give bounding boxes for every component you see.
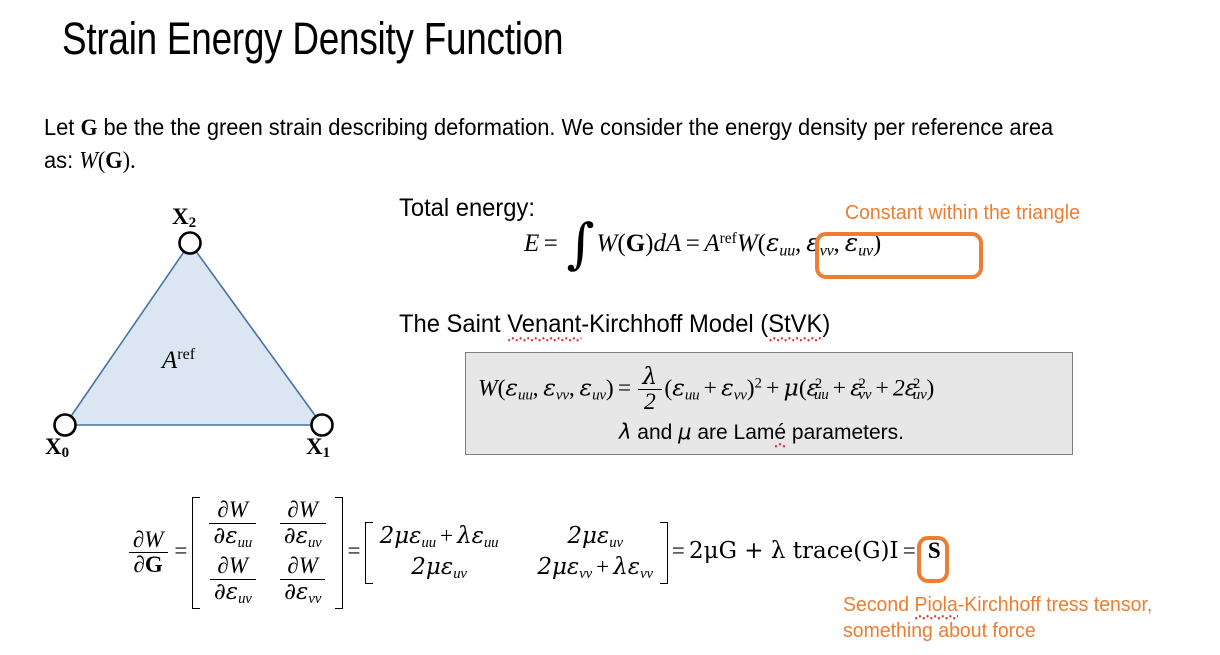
cell-sub-c: uv xyxy=(609,535,623,551)
eq-symbol-G: G xyxy=(626,230,645,257)
stvk-paren-close: ) xyxy=(606,375,614,401)
cell-den-sub: vv xyxy=(308,591,321,607)
stvk-sq-sub-1: uu xyxy=(814,387,829,403)
vertex-node-x0 xyxy=(55,415,76,436)
dG-partial: ∂ xyxy=(134,552,145,577)
matrix-cell: ∂W∂εuv xyxy=(198,553,268,609)
cell-term-f: λε xyxy=(613,554,640,580)
cell-sub-d: uv xyxy=(453,566,467,582)
cell-frac: ∂W∂εuv xyxy=(280,498,326,552)
cell-sub-b: uu xyxy=(484,535,498,551)
dW-numerator: ∂W xyxy=(129,528,168,553)
energy-density-symbol-w: W xyxy=(79,148,98,174)
eq-differential-dA: dA xyxy=(653,230,681,257)
stvk-lhs-eps-2: ε xyxy=(543,373,556,401)
matrix-1-brackets: ∂W∂εuu ∂W∂εuv ∂W∂εuv ∂W∂εvv xyxy=(192,497,344,609)
eq-symbol-E: E xyxy=(524,230,539,257)
stvk-lhs-sub-2: vv xyxy=(556,387,569,403)
stvk-group-open-1: ( xyxy=(664,375,672,401)
stvk-heading-venant: Venant xyxy=(507,310,581,342)
eq-symbol-W: W xyxy=(597,230,618,257)
cell-sub-a: uu xyxy=(422,535,436,551)
matrix-row: ∂W∂εuu ∂W∂εuv xyxy=(198,497,338,553)
cell-term-a: 2με xyxy=(380,523,422,549)
dG-G: G xyxy=(145,552,163,577)
matrix-cell: 2μεuv xyxy=(507,522,661,553)
eq-paren-open-1: ( xyxy=(617,230,625,257)
total-energy-heading: Total energy: xyxy=(399,194,535,223)
stvk-heading: The Saint Venant-Kirchhoff Model (StVK) xyxy=(399,310,830,339)
vertex-node-x2 xyxy=(180,233,201,254)
vertex-label-x1-sub: 1 xyxy=(323,445,331,461)
cell-num: ∂W xyxy=(280,498,326,523)
cell-den: ∂εuv xyxy=(280,523,326,552)
reference-area-label-sup: ref xyxy=(177,346,195,363)
stvk-term-eps-1: ε xyxy=(672,373,685,401)
cell-num: ∂W xyxy=(210,554,256,579)
cell-den-eps: ∂ε xyxy=(284,579,308,605)
matrix-cell: 2μεuu+λεuu xyxy=(371,522,508,553)
deriv-result-expression: 2μG + λ trace(G)I xyxy=(689,538,899,564)
fraction-denominator-two: 2 xyxy=(638,389,661,415)
eq-symbol-A: A xyxy=(704,230,719,257)
cell-frac: ∂W∂εuu xyxy=(209,498,256,552)
annotation-second-piola-kirchhoff: Second Piola-Kirchhoff tress tensor,some… xyxy=(843,592,1152,644)
cell-frac: ∂W∂εvv xyxy=(280,554,325,608)
eq-equals-2: = xyxy=(681,230,704,257)
highlight-box-stress-tensor xyxy=(917,536,949,583)
stvk-heading-part-3: ) xyxy=(822,310,830,338)
cell-plus-2: + xyxy=(592,554,613,579)
lame-parameters-note: λ and μ are Lamé parameters. xyxy=(619,420,904,445)
matrix-cell: ∂W∂εuv xyxy=(268,497,338,553)
stvk-heading-abbr: StVK xyxy=(768,310,822,342)
annotation-bottom-part-1: Second xyxy=(843,593,914,616)
stvk-group-close-2: ) xyxy=(927,375,935,401)
eq-equals-1: = xyxy=(539,230,562,257)
vertex-label-x2-sub: 2 xyxy=(189,215,197,231)
eq-paren-open-2: ( xyxy=(758,230,766,257)
fraction-numerator-lambda: λ xyxy=(638,364,661,389)
annotation-bottom-part-2: -Kirchhoff tress tensor, xyxy=(958,593,1152,616)
stvk-coef-2: 2 xyxy=(893,375,905,401)
paren-open: ( xyxy=(98,148,105,174)
stvk-lhs-eps-1: ε xyxy=(505,373,518,401)
lame-text-1: are Lam xyxy=(692,421,775,444)
matrix-2-brackets: 2μεuu+λεuu 2μεuv 2μεuv 2μεvv+λεvv xyxy=(365,522,668,584)
cell-den-eps: ∂ε xyxy=(284,523,308,549)
page-title: Strain Energy Density Function xyxy=(62,12,563,66)
stvk-plus-2: + xyxy=(829,375,851,401)
vertex-label-x0-sub: 0 xyxy=(62,445,70,461)
matrix-cell: ∂W∂εvv xyxy=(268,553,338,609)
stvk-term-eps-2: ε xyxy=(721,373,734,401)
stvk-heading-part-1: The Saint xyxy=(399,310,507,338)
stvk-energy-equation: W(εuu, εvv, εuv)=λ2(εuu+εvv)2+μ(ε2uu+ε2v… xyxy=(478,364,934,416)
cell-term-e: 2με xyxy=(537,554,579,580)
annotation-bottom-piola: Piola xyxy=(914,593,957,620)
lame-and: and xyxy=(631,421,678,444)
derivative-equation: ∂W∂G= ∂W∂εuu ∂W∂εuv ∂W∂εuv ∂W∂εvv = 2μεu… xyxy=(126,497,949,609)
dW-partial: ∂ xyxy=(133,527,144,552)
integral-icon: ∫ xyxy=(566,229,594,259)
stvk-plus-outer: + xyxy=(762,375,784,401)
reference-area-label-base: A xyxy=(162,347,177,374)
matrix-row: 2μεuv 2μεvv+λεvv xyxy=(371,553,662,584)
cell-den: ∂εuv xyxy=(210,579,256,608)
stvk-term-sub-2: vv xyxy=(734,387,747,403)
intro-text-part-2: be the the green strain describing defor… xyxy=(44,114,1053,173)
energy-density-arg-g: G xyxy=(105,148,122,174)
stvk-plus-inner: + xyxy=(699,375,721,401)
stvk-sq-sub-2: vv xyxy=(858,387,871,403)
cell-den: ∂εuu xyxy=(209,523,256,552)
stvk-group-open-2: ( xyxy=(799,375,807,401)
dW-W: W xyxy=(144,527,163,552)
cell-plus: + xyxy=(436,523,457,548)
vertex-label-x2-base: X xyxy=(172,204,189,229)
deriv-equals-3: = xyxy=(668,538,689,563)
stvk-comma-1: , xyxy=(533,375,544,401)
cell-frac: ∂W∂εuv xyxy=(210,554,256,608)
stvk-power-2: 2 xyxy=(755,376,762,392)
lame-mu: μ xyxy=(678,420,691,444)
reference-area-label: Aref xyxy=(162,346,195,375)
cell-term-d: 2με xyxy=(411,554,453,580)
stvk-mu: μ xyxy=(784,373,799,401)
intro-text-part-1: Let xyxy=(44,114,80,140)
eq-superscript-ref: ref xyxy=(720,230,737,247)
stvk-sq-sub-3: uv xyxy=(913,387,927,403)
cell-num: ∂W xyxy=(280,554,325,579)
highlight-box-strain-args xyxy=(815,232,983,279)
dW-dG-fraction: ∂W∂G xyxy=(129,528,168,579)
eq-symbol-W2: W xyxy=(737,230,758,257)
stvk-plus-3: + xyxy=(871,375,893,401)
stvk-comma-2: , xyxy=(569,375,580,401)
stvk-group-close-1: ) xyxy=(747,375,755,401)
stvk-lhs-eps-3: ε xyxy=(579,373,592,401)
stress-matrix: 2μεuu+λεuu 2μεuv 2μεuv 2μεvv+λεvv xyxy=(371,522,662,584)
vertex-label-x1: X1 xyxy=(306,434,330,462)
vertex-label-x0: X0 xyxy=(45,434,69,462)
matrix-row: ∂W∂εuv ∂W∂εvv xyxy=(198,553,338,609)
eq-eps-1: ε xyxy=(766,228,779,257)
eq-eps-1-sub: uu xyxy=(779,242,795,259)
green-strain-symbol: G xyxy=(80,115,97,141)
stvk-lhs-sub-1: uu xyxy=(518,387,533,403)
cell-den-eps: ∂ε xyxy=(213,523,237,549)
cell-den-sub: uv xyxy=(308,535,322,551)
cell-num: ∂W xyxy=(209,498,256,523)
cell-den-sub: uu xyxy=(238,535,252,551)
cell-term-b: λε xyxy=(457,523,484,549)
stvk-term-sub-1: uu xyxy=(685,387,700,403)
annotation-bottom-line-2: something about force xyxy=(843,619,1036,642)
paren-close-period: ). xyxy=(123,148,136,174)
vertex-node-x1 xyxy=(312,415,333,436)
lambda-over-two-fraction: λ2 xyxy=(638,364,661,416)
deriv-equals-1: = xyxy=(170,538,191,563)
lame-accent-e: é xyxy=(774,421,786,448)
stvk-heading-part-2: -Kirchhoff Model ( xyxy=(581,310,768,338)
lame-lambda: λ xyxy=(619,420,631,444)
cell-sub-e: vv xyxy=(579,566,592,582)
intro-paragraph: Let G be the the green strain describing… xyxy=(44,111,1086,177)
triangle-shape xyxy=(65,243,322,425)
stvk-W: W xyxy=(478,375,498,401)
annotation-constant-within-triangle: Constant within the triangle xyxy=(845,200,1080,226)
triangle-svg xyxy=(36,200,396,475)
cell-den: ∂εvv xyxy=(280,579,325,608)
lame-text-2: parameters. xyxy=(786,421,904,444)
eq-comma-1: , xyxy=(795,230,806,257)
partial-derivative-matrix: ∂W∂εuu ∂W∂εuv ∂W∂εuv ∂W∂εvv xyxy=(198,497,338,609)
matrix-cell: 2μεuv xyxy=(371,553,508,584)
stvk-equals: = xyxy=(614,375,636,401)
deriv-equals-2: = xyxy=(343,538,364,563)
cell-den-eps: ∂ε xyxy=(214,579,238,605)
matrix-cell: ∂W∂εuu xyxy=(198,497,268,553)
vertex-label-x1-base: X xyxy=(306,434,323,459)
vertex-label-x2: X2 xyxy=(172,204,196,232)
cell-sub-f: vv xyxy=(640,566,653,582)
reference-triangle-figure: X2 X0 X1 Aref xyxy=(36,200,396,475)
vertex-label-x0-base: X xyxy=(45,434,62,459)
matrix-row: 2μεuu+λεuu 2μεuv xyxy=(371,522,662,553)
stvk-lhs-sub-3: uv xyxy=(592,387,606,403)
matrix-cell: 2μεvv+λεvv xyxy=(507,553,661,584)
cell-term-c: 2με xyxy=(567,523,609,549)
dG-denominator: ∂G xyxy=(129,552,168,578)
cell-den-sub: uv xyxy=(238,591,252,607)
